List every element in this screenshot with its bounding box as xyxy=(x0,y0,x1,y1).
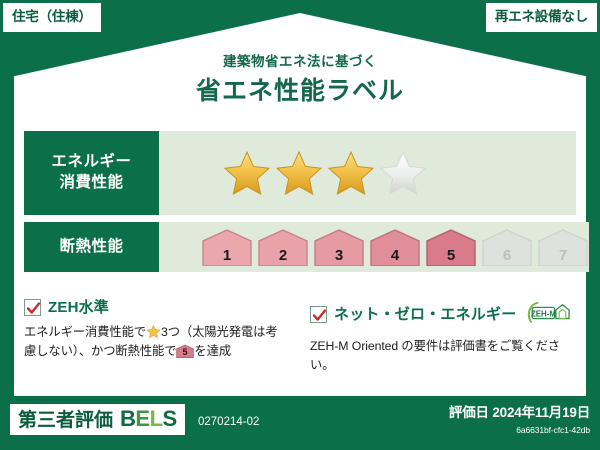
energy-performance-row: エネルギー 消費性能 xyxy=(24,131,576,215)
zeh-standard-block: ZEH水準 エネルギー消費性能で3つ（太陽光発電は考慮しない）、かつ断熱性能で5… xyxy=(24,299,300,374)
bels-logo-box: 第三者評価 BELS xyxy=(10,404,185,435)
net-zero-energy-description: ZEH-M Oriented の要件は評価書をご覧ください。 xyxy=(310,337,564,374)
page-title: 省エネ性能ラベル xyxy=(0,79,600,104)
bels-letter-l: L xyxy=(150,406,163,431)
title-subtitle: 建築物省エネ法に基づく xyxy=(0,55,600,69)
check-icon xyxy=(26,301,41,316)
energy-performance-label: 住宅（住棟） 再エネ設備なし 建築物省エネ法に基づく 省エネ性能ラベル エネルギ… xyxy=(0,0,600,450)
footer-bar: 第三者評価 BELS 0270214-02 評価日 2024年11月19日 6a… xyxy=(0,396,600,450)
house-step-label: 5 xyxy=(425,248,477,263)
house-step-6: 6 xyxy=(481,228,533,266)
svg-text:ZEH-M: ZEH-M xyxy=(531,309,556,318)
evaluation-date: 評価日 2024年11月19日 xyxy=(449,406,590,420)
house-step-1: 1 xyxy=(201,228,253,266)
inline-house-badge-icon: 5 xyxy=(176,344,194,358)
check-icon xyxy=(312,308,327,323)
renewable-equipment-tag: 再エネ設備なし xyxy=(486,3,597,32)
house-step-4: 4 xyxy=(369,228,421,266)
star-filled-icon xyxy=(326,148,376,198)
net-zero-energy-block: ネット・ゼロ・エネルギー ZEH-M ZEH-M Oriented の要件は評価… xyxy=(300,299,576,374)
house-step-5: 5 xyxy=(425,228,477,266)
insulation-performance-label: 断熱性能 xyxy=(24,222,159,272)
insulation-performance-row: 断熱性能 1 2 xyxy=(24,222,576,272)
zeh-desc-part1: エネルギー消費性能で xyxy=(24,325,146,339)
zeh-desc-part3: を達成 xyxy=(194,344,231,358)
star-empty-icon xyxy=(378,148,428,198)
house-step-3: 3 xyxy=(313,228,365,266)
zeh-standard-description: エネルギー消費性能で3つ（太陽光発電は考慮しない）、かつ断熱性能で5を達成 xyxy=(24,323,288,360)
energy-label-line2: 消費性能 xyxy=(59,174,123,191)
star-filled-icon xyxy=(222,148,272,198)
certificate-id: 0270214-02 xyxy=(198,417,259,429)
house-step-2: 2 xyxy=(257,228,309,266)
house-step-label: 6 xyxy=(481,248,533,263)
svg-text:5: 5 xyxy=(183,347,188,357)
house-scale: 1 2 3 xyxy=(159,228,589,266)
net-zero-energy-title: ネット・ゼロ・エネルギー xyxy=(334,307,516,322)
house-step-label: 1 xyxy=(201,248,253,263)
star-filled-icon xyxy=(274,148,324,198)
house-step-label: 4 xyxy=(369,248,421,263)
zeh-standard-header: ZEH水準 xyxy=(24,299,288,316)
house-step-7: 7 xyxy=(537,228,589,266)
third-party-evaluation-label: 第三者評価 xyxy=(18,411,113,430)
bels-letter-s: S xyxy=(163,406,177,431)
house-step-label: 7 xyxy=(537,248,589,263)
energy-performance-value xyxy=(159,131,576,215)
house-step-label: 3 xyxy=(313,248,365,263)
ratings-container: エネルギー 消費性能 xyxy=(24,131,576,279)
net-zero-energy-checkbox[interactable] xyxy=(310,306,327,323)
evaluation-info: 評価日 2024年11月19日 6a6631bf-cfc1-42db xyxy=(449,406,590,434)
energy-performance-label: エネルギー 消費性能 xyxy=(24,131,159,215)
bels-wordmark: BELS xyxy=(120,408,177,430)
zeh-standard-title: ZEH水準 xyxy=(48,300,109,315)
certification-checks: ZEH水準 エネルギー消費性能で3つ（太陽光発電は考慮しない）、かつ断熱性能で5… xyxy=(24,299,576,374)
label-title-block: 建築物省エネ法に基づく 省エネ性能ラベル xyxy=(0,55,600,104)
zeh-m-logo-icon: ZEH-M xyxy=(527,299,573,330)
zeh-standard-checkbox[interactable] xyxy=(24,299,41,316)
house-step-label: 2 xyxy=(257,248,309,263)
evaluation-hash: 6a6631bf-cfc1-42db xyxy=(449,426,590,435)
building-type-tag: 住宅（住棟） xyxy=(3,3,101,32)
star-rating xyxy=(159,148,428,198)
inline-star-icon xyxy=(146,324,161,339)
energy-label-line1: エネルギー xyxy=(51,153,131,170)
insulation-performance-value: 1 2 3 xyxy=(159,222,589,272)
net-zero-energy-header: ネット・ゼロ・エネルギー ZEH-M xyxy=(310,299,564,330)
bels-letter-b: B xyxy=(120,406,135,431)
bels-letter-e: E xyxy=(135,406,149,431)
